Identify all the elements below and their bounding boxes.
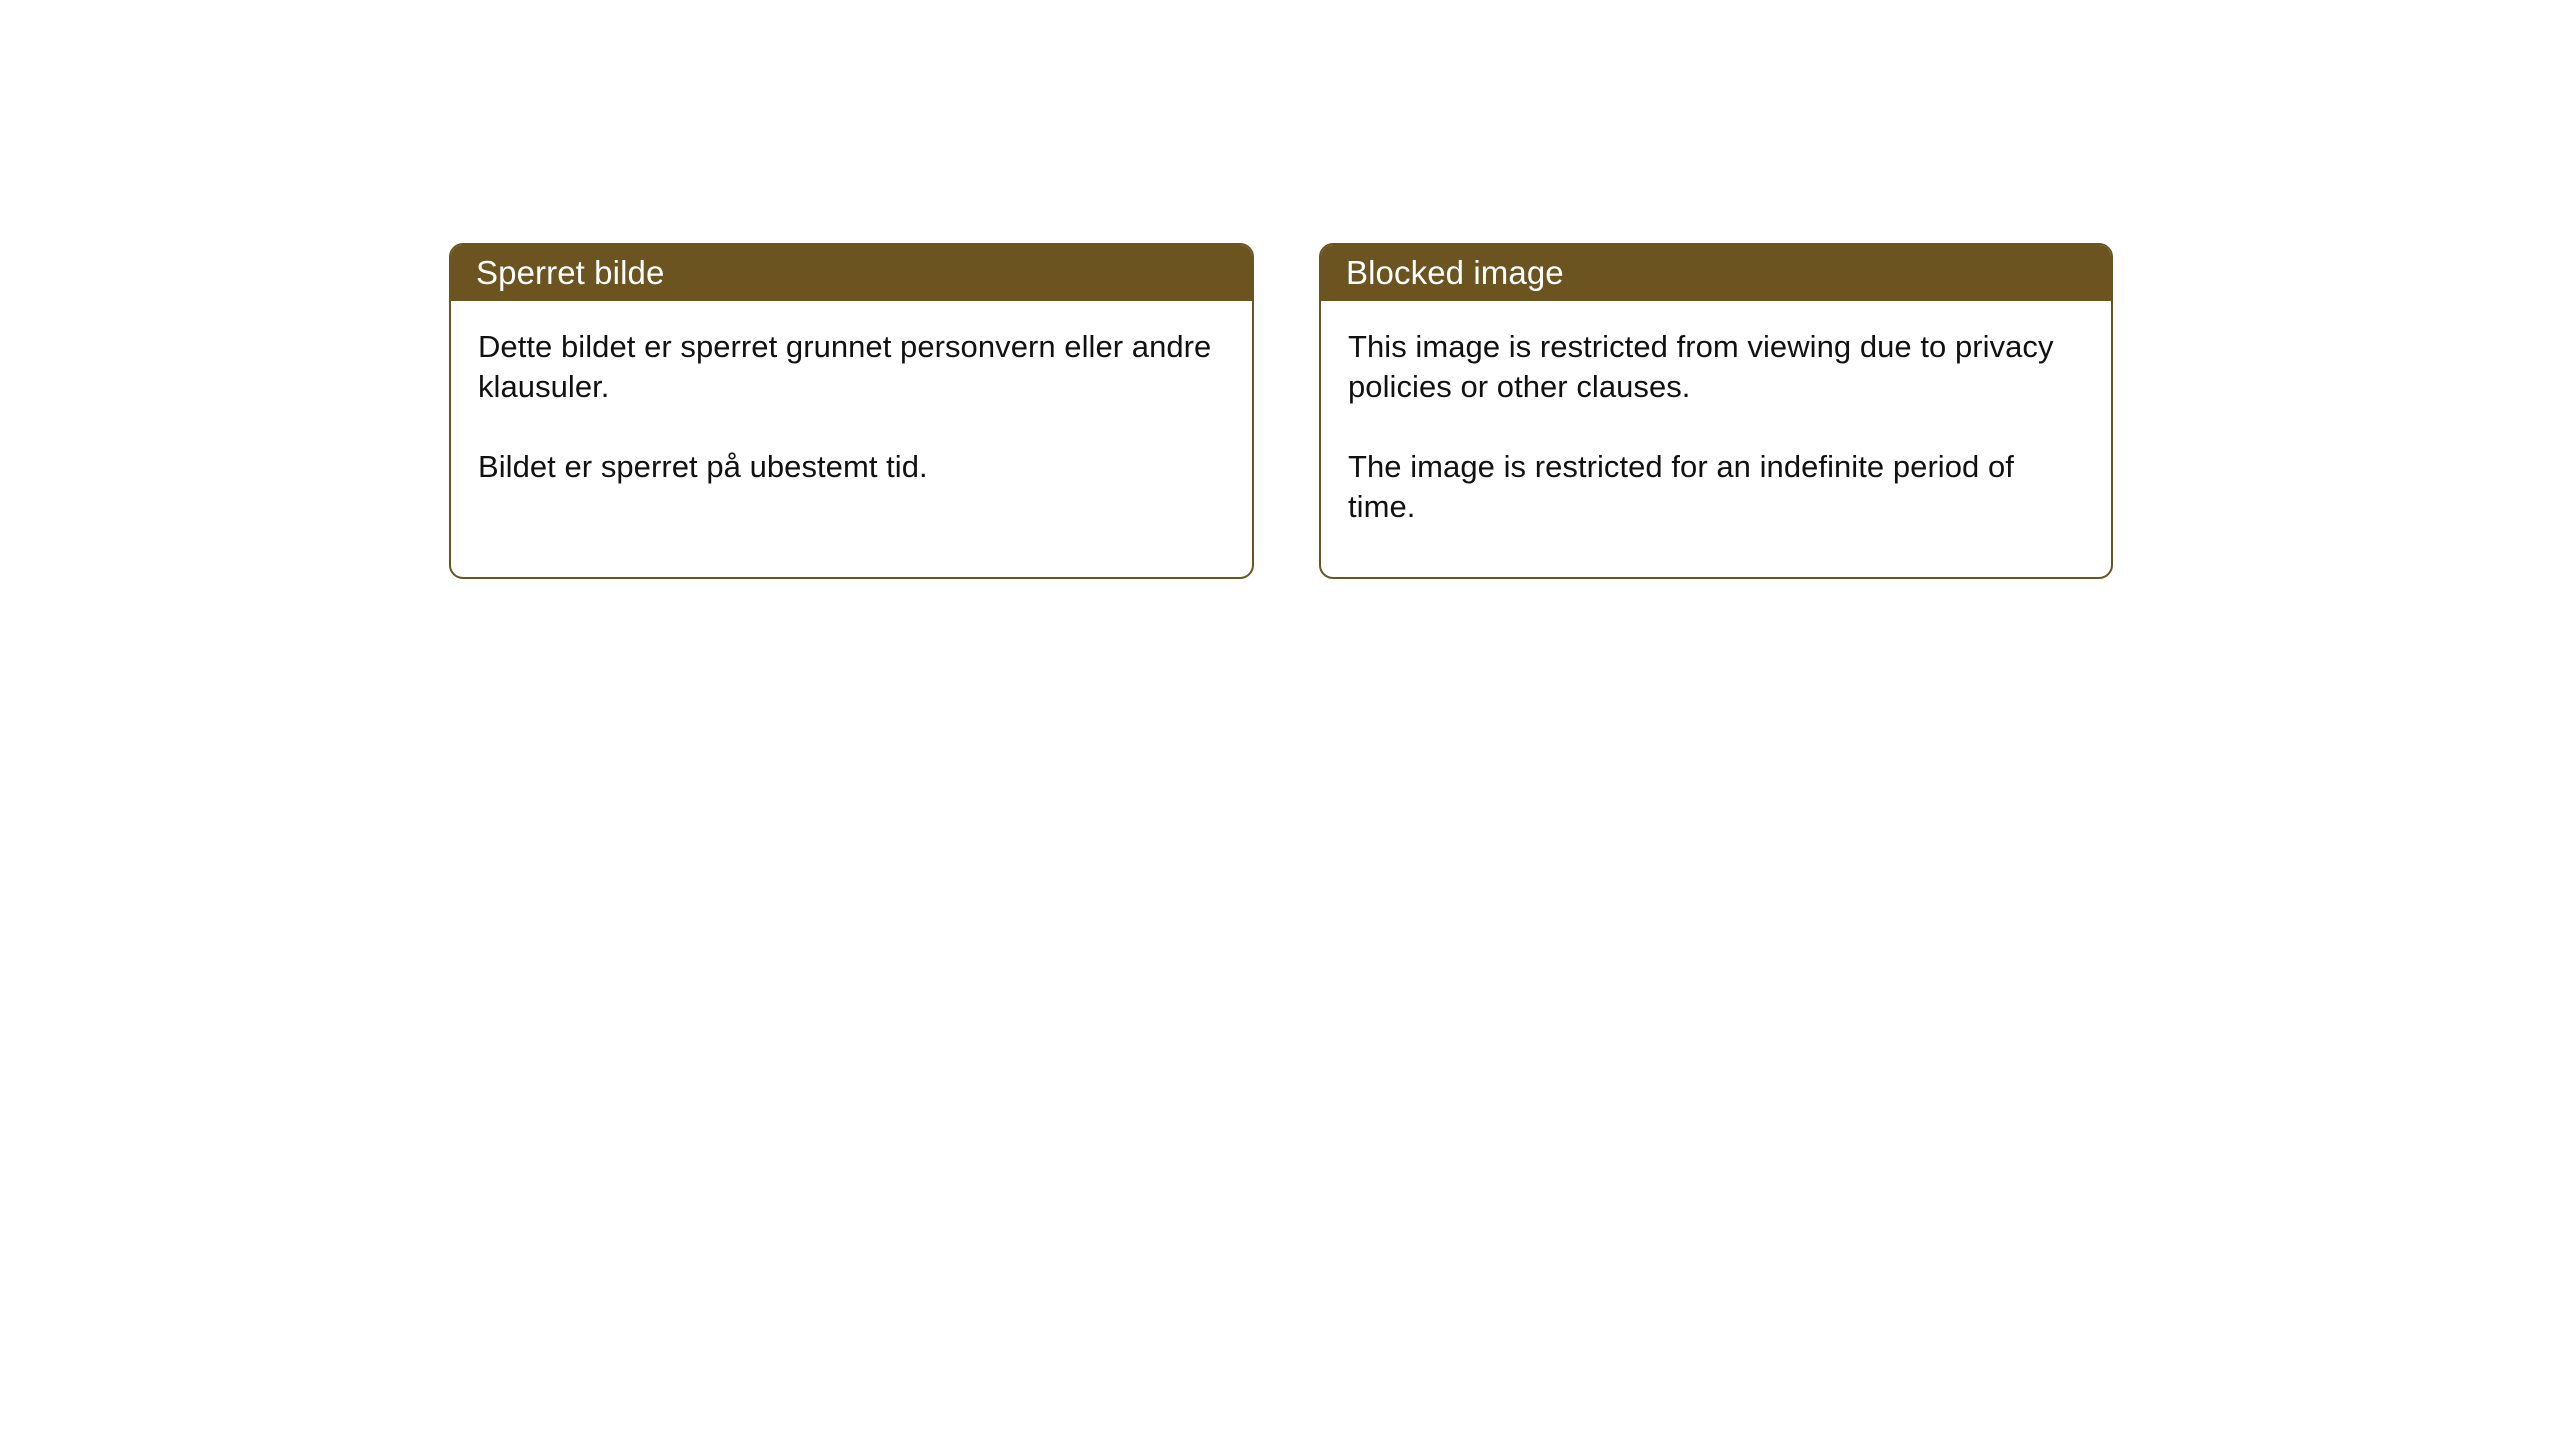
card-title-english: Blocked image bbox=[1346, 255, 1564, 291]
blocked-image-card-norwegian: Sperret bilde Dette bildet er sperret gr… bbox=[449, 243, 1254, 579]
card-paragraph-primary-english: This image is restricted from viewing du… bbox=[1348, 327, 2085, 407]
card-title-norwegian: Sperret bilde bbox=[476, 255, 664, 291]
page-canvas: Sperret bilde Dette bildet er sperret gr… bbox=[0, 0, 2560, 1440]
card-paragraph-primary-norwegian: Dette bildet er sperret grunnet personve… bbox=[478, 327, 1226, 407]
card-paragraph-secondary-norwegian: Bildet er sperret på ubestemt tid. bbox=[478, 447, 1226, 487]
blocked-image-card-english: Blocked image This image is restricted f… bbox=[1319, 243, 2113, 579]
card-header-norwegian: Sperret bilde bbox=[451, 245, 1252, 301]
card-body-norwegian: Dette bildet er sperret grunnet personve… bbox=[451, 301, 1252, 487]
card-header-english: Blocked image bbox=[1321, 245, 2111, 301]
card-paragraph-secondary-english: The image is restricted for an indefinit… bbox=[1348, 447, 2085, 527]
card-body-english: This image is restricted from viewing du… bbox=[1321, 301, 2111, 527]
